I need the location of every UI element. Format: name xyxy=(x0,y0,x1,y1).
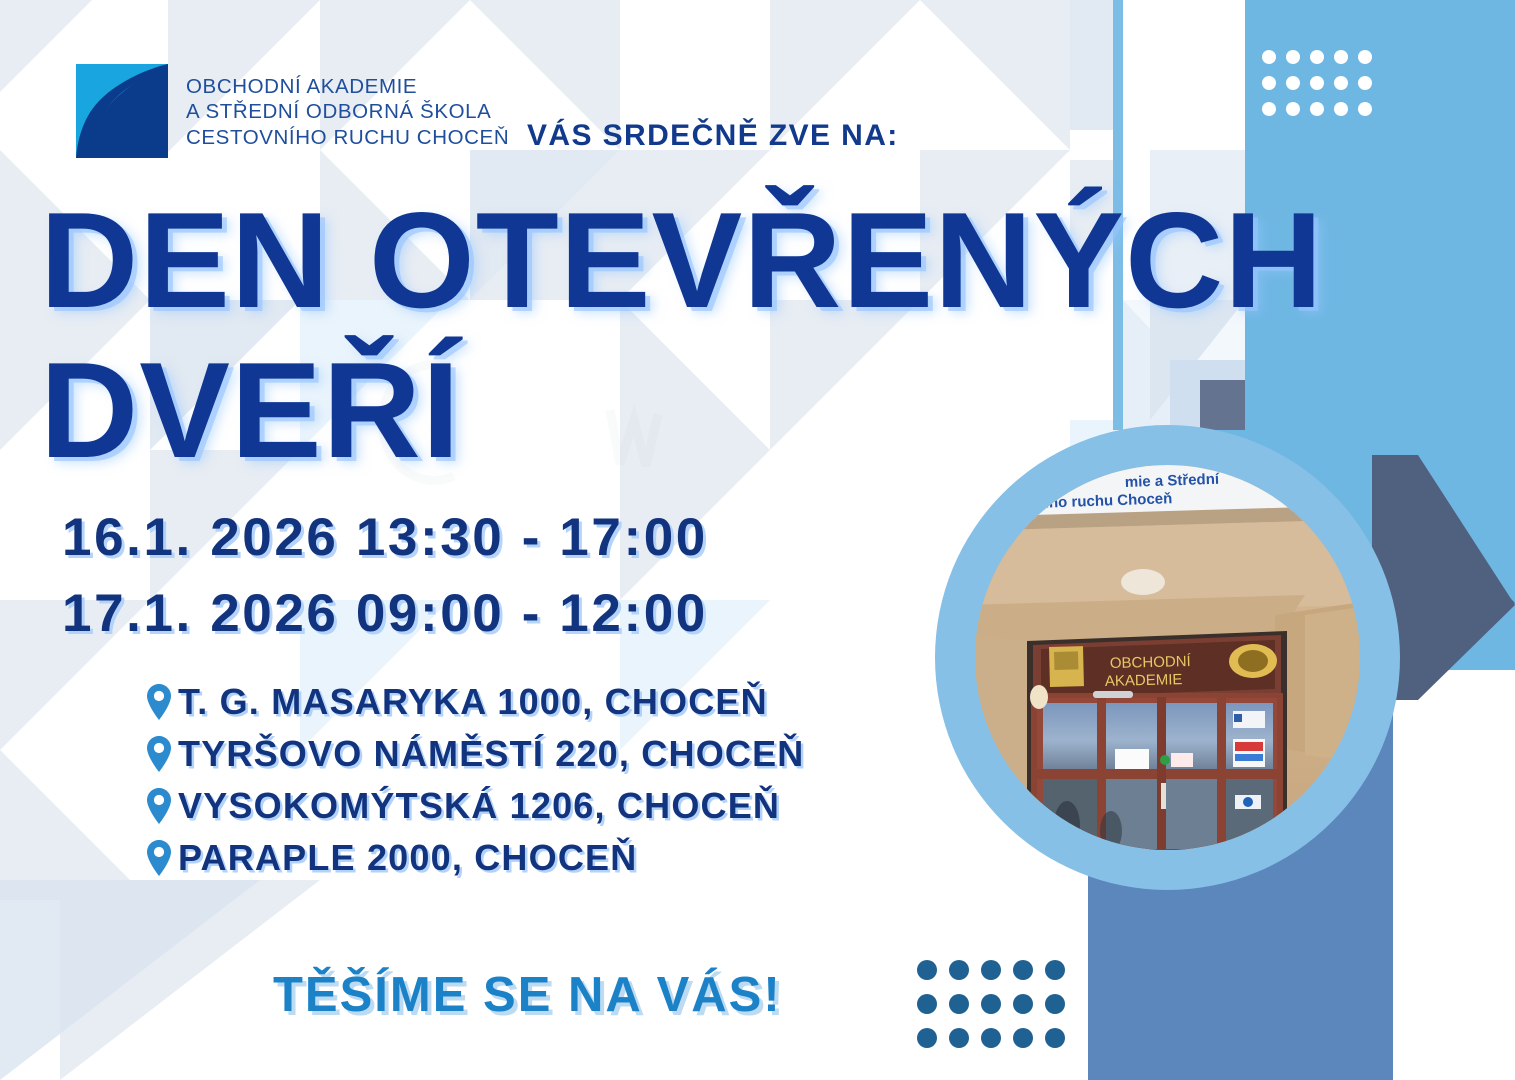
map-pin-icon xyxy=(140,735,178,773)
closing-message: TĚŠÍME SE NA VÁS! xyxy=(273,967,782,1023)
school-entrance-photo: mie a Střední stovního ruchu Choceň xyxy=(975,465,1360,850)
decorative-dot xyxy=(1013,960,1033,980)
map-pin-icon xyxy=(140,839,178,877)
svg-text:OBCHODNÍ: OBCHODNÍ xyxy=(1110,653,1192,672)
event-date-1: 16.1. 2026 13:30 - 17:00 xyxy=(62,500,708,576)
decorative-dot xyxy=(1045,1028,1065,1048)
decorative-dot xyxy=(1358,76,1372,90)
invite-line: VÁS SRDEČNĚ ZVE NA: xyxy=(527,119,899,153)
decorative-dot xyxy=(917,960,937,980)
list-item: TYRŠOVO NÁMĚSTÍ 220, CHOCEŇ xyxy=(140,728,805,780)
decorative-dot xyxy=(1334,50,1348,64)
school-logo-text: OBCHODNÍ AKADEMIE A STŘEDNÍ ODBORNÁ ŠKOL… xyxy=(186,74,509,151)
school-sail-logo-icon xyxy=(68,62,172,162)
decorative-dot xyxy=(981,994,1001,1014)
headline-line-1: DEN OTEVŘENÝCH xyxy=(40,185,1480,335)
school-logo: OBCHODNÍ AKADEMIE A STŘEDNÍ ODBORNÁ ŠKOL… xyxy=(68,62,509,162)
logo-line-3: CESTOVNÍHO RUCHU CHOCEŇ xyxy=(186,125,509,151)
decorative-dot xyxy=(1013,994,1033,1014)
decorative-dot xyxy=(917,994,937,1014)
logo-line-2: A STŘEDNÍ ODBORNÁ ŠKOLA xyxy=(186,99,509,125)
decorative-dot xyxy=(1045,994,1065,1014)
svg-text:mie a Střední: mie a Střední xyxy=(1125,471,1221,491)
svg-text:AKADEMIE: AKADEMIE xyxy=(1105,671,1183,690)
dot-grid-bottom xyxy=(917,960,1077,1062)
decorative-dot xyxy=(1334,102,1348,116)
decorative-dot xyxy=(1286,50,1300,64)
decorative-dot xyxy=(949,960,969,980)
list-item: VYSOKOMÝTSKÁ 1206, CHOCEŇ xyxy=(140,780,805,832)
school-entrance-photo-frame: mie a Střední stovního ruchu Choceň xyxy=(935,425,1400,890)
decorative-dot xyxy=(1310,50,1324,64)
list-item: T. G. MASARYKA 1000, CHOCEŇ xyxy=(140,676,805,728)
poster-canvas: OBCHODNÍ AKADEMIE A STŘEDNÍ ODBORNÁ ŠKOL… xyxy=(0,0,1515,1080)
address-text: VYSOKOMÝTSKÁ 1206, CHOCEŇ xyxy=(178,785,780,827)
map-pin-icon xyxy=(140,787,178,825)
decorative-dot xyxy=(1310,76,1324,90)
address-text: TYRŠOVO NÁMĚSTÍ 220, CHOCEŇ xyxy=(178,733,805,775)
logo-line-1: OBCHODNÍ AKADEMIE xyxy=(186,74,509,100)
map-pin-icon xyxy=(140,683,178,721)
decorative-dot xyxy=(1013,1028,1033,1048)
dot-grid-top-right xyxy=(1262,50,1382,128)
address-list: T. G. MASARYKA 1000, CHOCEŇ TYRŠOVO NÁMĚ… xyxy=(140,676,805,884)
decorative-dot xyxy=(1310,102,1324,116)
decorative-dot xyxy=(1262,50,1276,64)
decorative-dot xyxy=(917,1028,937,1048)
decorative-dot xyxy=(1286,76,1300,90)
decorative-dot xyxy=(1045,960,1065,980)
decorative-dot xyxy=(1262,76,1276,90)
decorative-dot xyxy=(1334,76,1348,90)
decorative-dot xyxy=(949,994,969,1014)
decorative-dot xyxy=(1286,102,1300,116)
decorative-dot xyxy=(949,1028,969,1048)
address-text: T. G. MASARYKA 1000, CHOCEŇ xyxy=(178,681,768,723)
decorative-dot xyxy=(1262,102,1276,116)
decorative-dot xyxy=(1358,50,1372,64)
decorative-dot xyxy=(1358,102,1372,116)
decorative-dot xyxy=(981,1028,1001,1048)
page-title: DEN OTEVŘENÝCH DVEŘÍ xyxy=(40,185,1480,485)
list-item: PARAPLE 2000, CHOCEŇ xyxy=(140,832,805,884)
event-dates: 16.1. 2026 13:30 - 17:00 17.1. 2026 09:0… xyxy=(62,500,708,652)
event-date-2: 17.1. 2026 09:00 - 12:00 xyxy=(62,576,708,652)
decorative-dot xyxy=(981,960,1001,980)
address-text: PARAPLE 2000, CHOCEŇ xyxy=(178,837,637,879)
